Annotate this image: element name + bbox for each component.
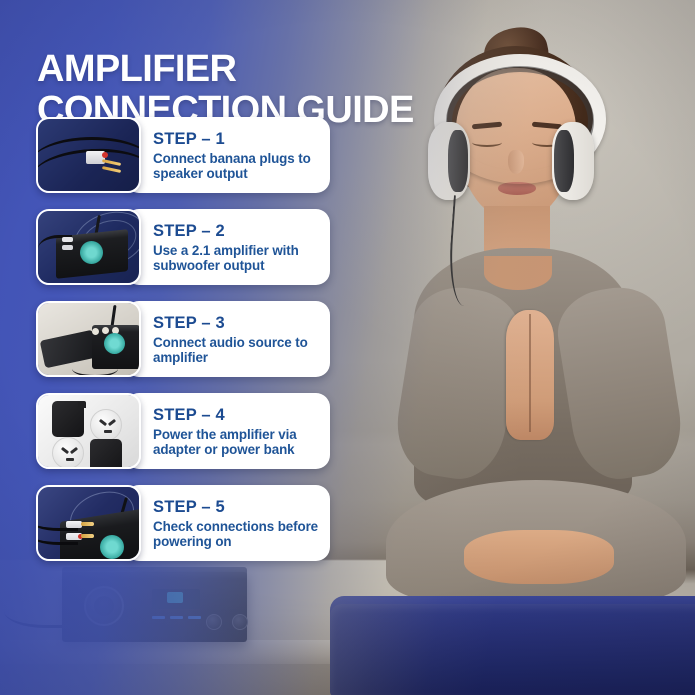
step-4-description: Power the amplifier via adapter or power… <box>153 427 320 457</box>
step-5-body: STEP – 5 Check connections before poweri… <box>125 485 330 561</box>
amplifier-blue-cloth-image <box>38 211 139 283</box>
step-1-body: STEP – 1 Connect banana plugs to speaker… <box>125 117 330 193</box>
step-3-thumbnail <box>36 301 141 377</box>
amplifier-led-1 <box>152 616 165 619</box>
banana-plugs-image <box>38 119 139 191</box>
amplifier-display-icon <box>167 592 183 603</box>
amplifier-led-2 <box>170 616 183 619</box>
step-1-description: Connect banana plugs to speaker output <box>153 151 320 181</box>
amplifier-led-3 <box>188 616 201 619</box>
step-1-thumbnail <box>36 117 141 193</box>
step-card-3[interactable]: STEP – 3 Connect audio source to amplifi… <box>36 301 330 377</box>
step-1-label: STEP – 1 <box>153 130 320 148</box>
steps-list: STEP – 1 Connect banana plugs to speaker… <box>36 117 330 577</box>
amplifier-small-knob-2 <box>232 614 248 630</box>
step-4-label: STEP – 4 <box>153 406 320 424</box>
connections-check-image <box>38 487 139 559</box>
infographic-poster: AMPLIFIER CONNECTION GUIDE STEP – 1 Conn… <box>0 0 695 695</box>
step-5-description: Check connections before powering on <box>153 519 320 549</box>
step-3-description: Connect audio source to amplifier <box>153 335 320 365</box>
step-5-thumbnail <box>36 485 141 561</box>
power-adapter-image <box>38 395 139 467</box>
step-3-label: STEP – 3 <box>153 314 320 332</box>
step-2-label: STEP – 2 <box>153 222 320 240</box>
step-card-4[interactable]: STEP – 4 Power the amplifier via adapter… <box>36 393 330 469</box>
amplifier-small-knob-1 <box>206 614 222 630</box>
step-card-5[interactable]: STEP – 5 Check connections before poweri… <box>36 485 330 561</box>
meditating-woman-photo <box>380 10 695 650</box>
step-3-body: STEP – 3 Connect audio source to amplifi… <box>125 301 330 377</box>
headphone-earpad-right <box>554 130 574 192</box>
audio-source-image <box>38 303 139 375</box>
ankles <box>464 530 614 584</box>
step-card-2[interactable]: STEP – 2 Use a 2.1 amplifier with subwoo… <box>36 209 330 285</box>
headphone-earpad-left <box>448 130 468 192</box>
blue-velvet-cushion <box>330 604 695 695</box>
step-2-body: STEP – 2 Use a 2.1 amplifier with subwoo… <box>125 209 330 285</box>
amplifier-volume-knob-center <box>94 596 114 616</box>
step-2-thumbnail <box>36 209 141 285</box>
step-4-thumbnail <box>36 393 141 469</box>
title-line-1: AMPLIFIER <box>37 48 236 90</box>
hands-seam <box>529 314 531 432</box>
step-4-body: STEP – 4 Power the amplifier via adapter… <box>125 393 330 469</box>
step-2-description: Use a 2.1 amplifier with subwoofer outpu… <box>153 243 320 273</box>
collar-neckline <box>484 256 552 290</box>
step-5-label: STEP – 5 <box>153 498 320 516</box>
step-card-1[interactable]: STEP – 1 Connect banana plugs to speaker… <box>36 117 330 193</box>
